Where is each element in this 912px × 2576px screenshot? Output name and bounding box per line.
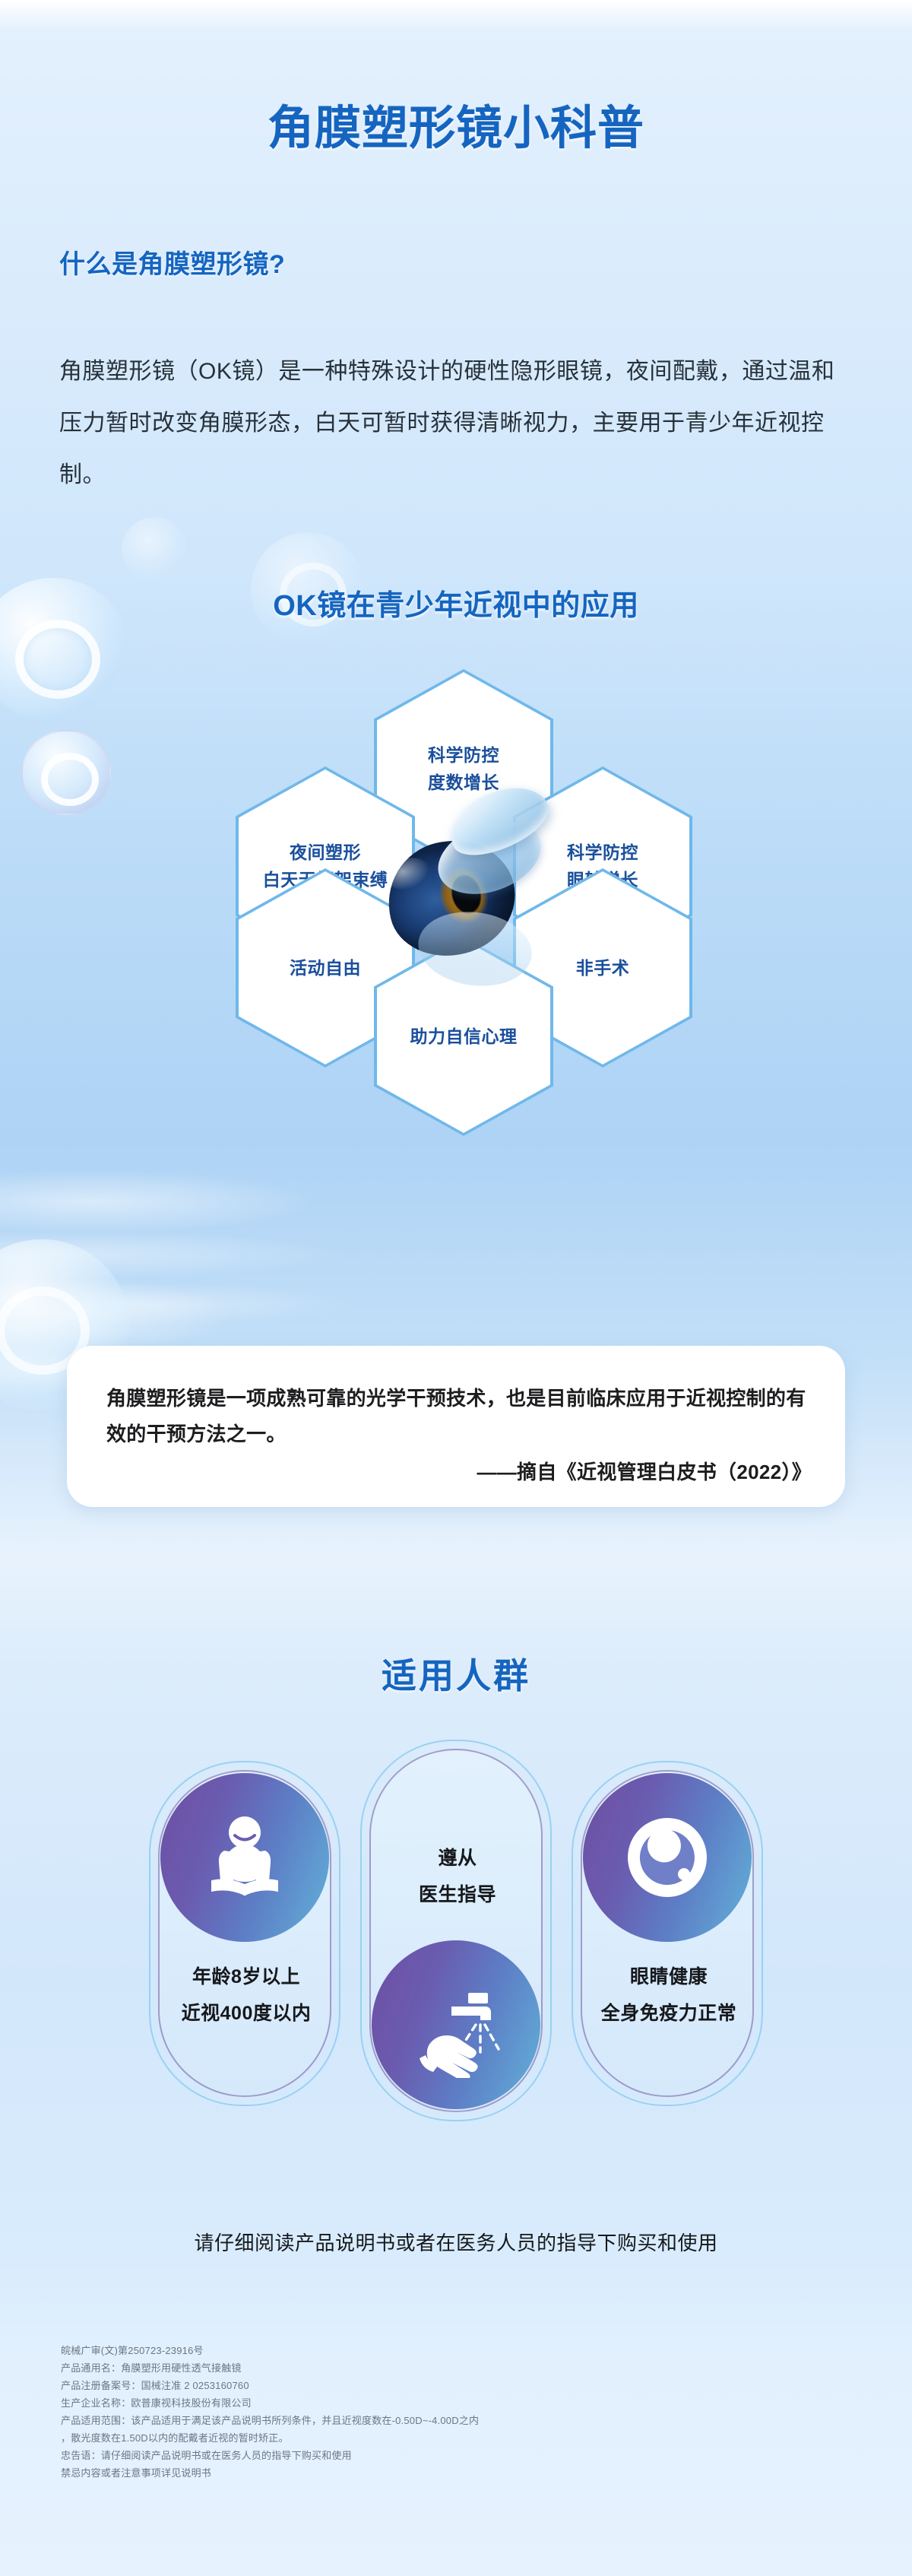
hexagon-label: 助力自信心理: [410, 1023, 518, 1050]
audience-card-label: 年龄8岁以上 近视400度以内: [160, 1959, 333, 2032]
audience-card-age-prescription[interactable]: 年龄8岁以上 近视400度以内: [158, 1770, 331, 2097]
audience-card-group: 年龄8岁以上 近视400度以内 遵从 医生指导: [0, 1749, 912, 2137]
audience-card-eye-health[interactable]: 眼睛健康 全身免疫力正常: [581, 1770, 754, 2097]
quote-text: 角膜塑形镜是一项成熟可靠的光学干预技术，也是目前临床应用于近视控制的有效的干预方…: [106, 1381, 813, 1452]
legal-line: 产品注册备案号：国械注准 2 0253160760: [61, 2377, 836, 2394]
legal-line: 产品适用范围：该产品适用于满足该产品说明书所列条件，并且近视度数在-0.50D~…: [61, 2412, 836, 2429]
quote-source: ——摘自《近视管理白皮书（2022）》: [477, 1457, 812, 1485]
hand-washing-icon: [372, 1940, 540, 2109]
legal-fine-print: 皖械广审(文)第250723-23916号 产品通用名：角膜塑形用硬性透气接触镜…: [61, 2342, 836, 2482]
legal-line: 禁忌内容或者注意事项详见说明书: [61, 2464, 836, 2482]
hexagon-label: 科学防控 度数增长: [428, 741, 499, 796]
hexagon-cluster: 科学防控 度数增长 夜间塑形 白天无框架束缚 科学防控 眼轴增长 活动自由 非手…: [129, 669, 798, 1201]
child-reading-book-icon: [160, 1773, 329, 1942]
hexagon-label: 活动自由: [290, 954, 361, 982]
section-subtitle-what-is: 什么是角膜塑形镜?: [59, 243, 285, 281]
legal-line: 生产企业名称：欧普康视科技股份有限公司: [61, 2394, 836, 2412]
audience-card-label: 眼睛健康 全身免疫力正常: [582, 1959, 755, 2032]
section-title-application: OK镜在青少年近视中的应用: [0, 582, 912, 623]
legal-line: 皖械广审(文)第250723-23916号: [61, 2342, 836, 2359]
audience-card-follow-doctor[interactable]: 遵从 医生指导: [369, 1749, 543, 2112]
legal-line: ，散光度数在1.50D以内的配戴者近视的暂时矫正。: [61, 2429, 836, 2447]
eye-icon: [583, 1773, 752, 1942]
page-title: 角膜塑形镜小科普: [0, 90, 912, 157]
bubble-decoration: [122, 517, 187, 582]
legal-line: 产品通用名：角膜塑形用硬性透气接触镜: [61, 2359, 836, 2377]
intro-paragraph: 角膜塑形镜（OK镜）是一种特殊设计的硬性隐形眼镜，夜间配戴，通过温和压力暂时改变…: [59, 346, 853, 501]
footer-note: 请仔细阅读产品说明书或者在医务人员的指导下购买和使用: [0, 2228, 912, 2256]
legal-line: 忠告语：请仔细阅读产品说明书或在医务人员的指导下购买和使用: [61, 2447, 836, 2464]
section-title-audience: 适用人群: [0, 1648, 912, 1699]
poster-page: 角膜塑形镜小科普 什么是角膜塑形镜? 角膜塑形镜（OK镜）是一种特殊设计的硬性隐…: [0, 0, 912, 2576]
audience-card-label: 遵从 医生指导: [371, 1840, 544, 1913]
bubble-decoration: [21, 730, 111, 815]
hexagon-label: 非手术: [576, 954, 630, 982]
quote-card: 角膜塑形镜是一项成熟可靠的光学干预技术，也是目前临床应用于近视控制的有效的干预方…: [67, 1346, 845, 1507]
